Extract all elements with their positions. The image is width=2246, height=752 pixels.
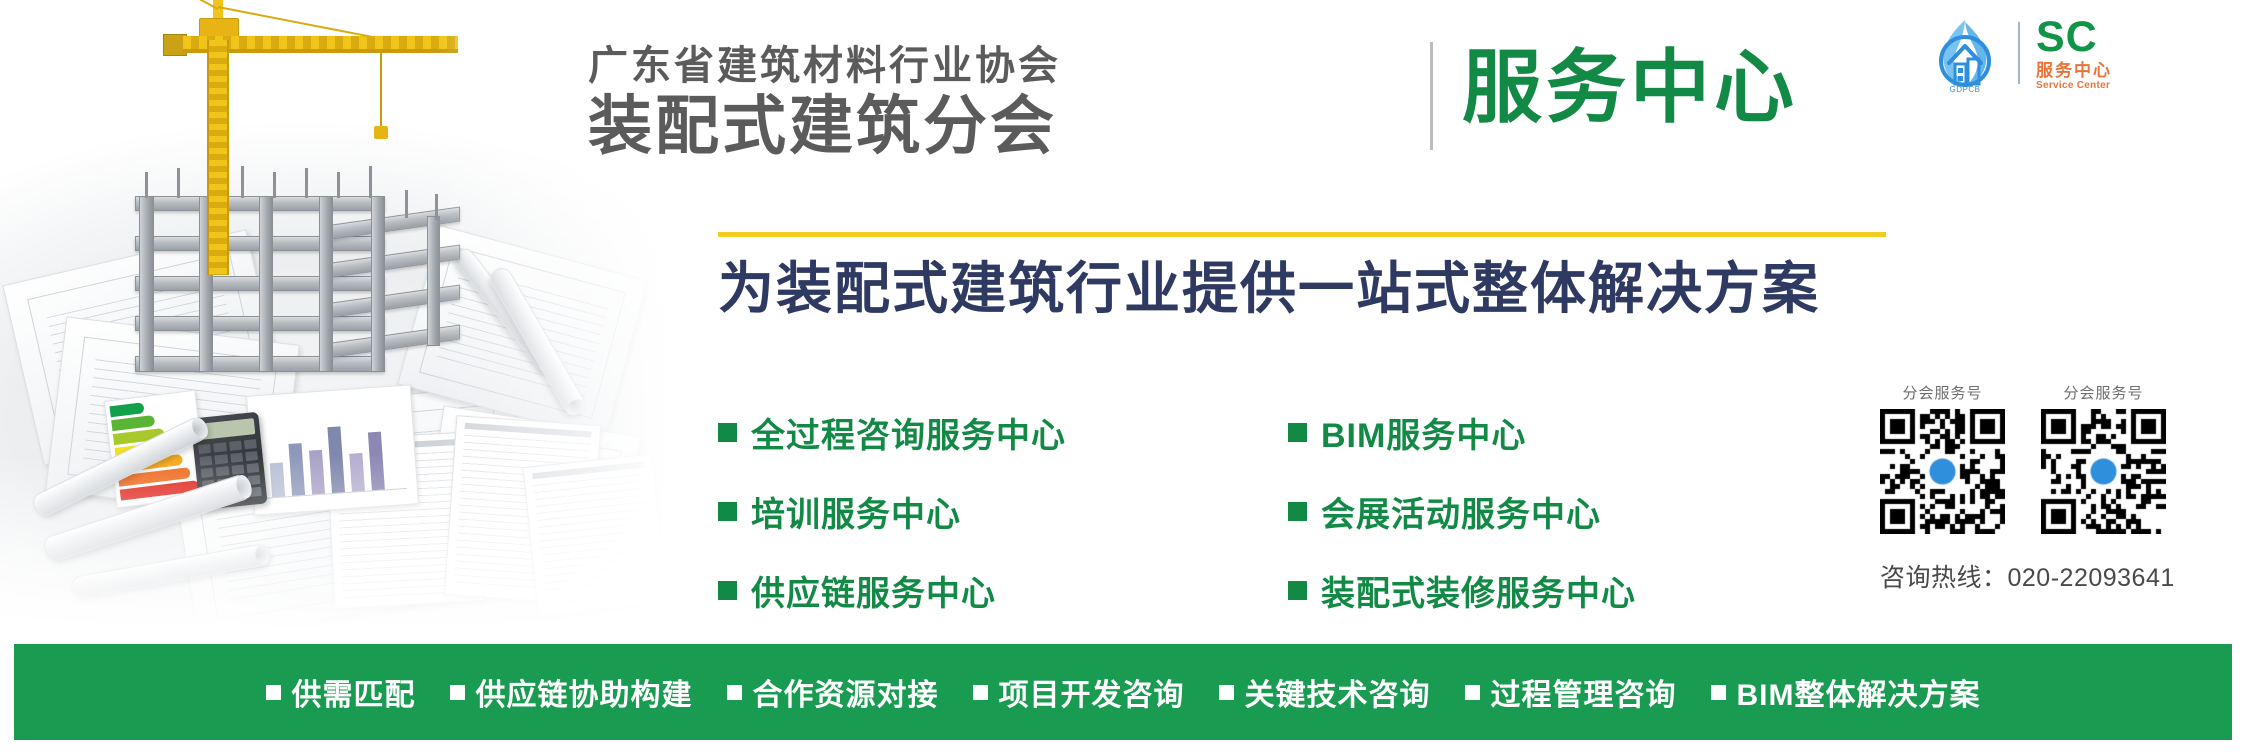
logo-abbr: SC bbox=[2036, 16, 2112, 59]
bottom-bar-item-label: 项目开发咨询 bbox=[999, 670, 1185, 714]
bottom-bar-item[interactable]: 项目开发咨询 bbox=[973, 670, 1185, 714]
qr-code-image[interactable] bbox=[2041, 409, 2166, 534]
logo-lockup: GDPCB SC 服务中心 Service Center bbox=[1928, 14, 2220, 92]
bottom-bar-item[interactable]: 合作资源对接 bbox=[727, 670, 939, 714]
service-center-list: 全过程咨询服务中心 BIM服务中心 培训服务中心 会展活动服务中心 供应链服务中… bbox=[718, 408, 1778, 615]
square-bullet-icon bbox=[1465, 685, 1480, 700]
square-bullet-icon bbox=[727, 685, 742, 700]
house-flame-icon: GDPCB bbox=[1928, 16, 2002, 90]
hotline-text: 咨询热线：020-22093641 bbox=[1880, 558, 2175, 594]
square-bullet-icon bbox=[1711, 685, 1726, 700]
qr-code-caption: 分会服务号 bbox=[1880, 382, 2005, 403]
service-item-label: 供应链服务中心 bbox=[751, 566, 996, 615]
square-bullet-icon bbox=[266, 685, 281, 700]
square-bullet-icon bbox=[973, 685, 988, 700]
bottom-bar-item-label: 供需匹配 bbox=[292, 670, 416, 714]
tagline: 为装配式建筑行业提供一站式整体解决方案 bbox=[718, 258, 1820, 320]
bottom-bar-item-label: 供应链协助构建 bbox=[476, 670, 693, 714]
bottom-service-bar: 供需匹配 供应链协助构建 合作资源对接 项目开发咨询 关键技术咨询 过程管理咨询… bbox=[14, 644, 2232, 740]
service-item-label: 装配式装修服务中心 bbox=[1321, 566, 1636, 615]
qr-code-cell: 分会服务号 bbox=[2041, 382, 2166, 534]
association-name: 广东省建筑材料行业协会 装配式建筑分会 bbox=[588, 46, 1061, 158]
bottom-bar-item[interactable]: 供应链协助构建 bbox=[450, 670, 693, 714]
qr-code-image[interactable] bbox=[1880, 409, 2005, 534]
square-bullet-icon bbox=[1219, 685, 1234, 700]
logo-name-cn: 服务中心 bbox=[2036, 62, 2112, 79]
bottom-bar-item[interactable]: 关键技术咨询 bbox=[1219, 670, 1431, 714]
service-item-label: 培训服务中心 bbox=[751, 487, 961, 536]
square-bullet-icon bbox=[450, 685, 465, 700]
square-bullet-icon bbox=[718, 423, 737, 442]
bottom-bar-item-label: 关键技术咨询 bbox=[1245, 670, 1431, 714]
service-item[interactable]: 会展活动服务中心 bbox=[1288, 487, 1778, 536]
yellow-divider bbox=[718, 232, 1886, 237]
service-item[interactable]: 培训服务中心 bbox=[718, 487, 1288, 536]
square-bullet-icon bbox=[718, 502, 737, 521]
qr-code-caption: 分会服务号 bbox=[2041, 382, 2166, 403]
bottom-bar-item[interactable]: 过程管理咨询 bbox=[1465, 670, 1677, 714]
bottom-bar-item-label: 合作资源对接 bbox=[753, 670, 939, 714]
logo-text: SC 服务中心 Service Center bbox=[2036, 16, 2112, 91]
service-item[interactable]: BIM服务中心 bbox=[1288, 408, 1778, 457]
service-item-label: BIM服务中心 bbox=[1321, 408, 1526, 457]
bottom-bar-item[interactable]: BIM整体解决方案 bbox=[1711, 670, 1981, 714]
service-item[interactable]: 供应链服务中心 bbox=[718, 566, 1288, 615]
service-center-heading: 服务中心 bbox=[1462, 48, 1798, 128]
square-bullet-icon bbox=[1288, 423, 1307, 442]
qr-code-cell: 分会服务号 bbox=[1880, 382, 2005, 534]
association-name-line1: 广东省建筑材料行业协会 bbox=[588, 46, 1061, 86]
header-vertical-divider bbox=[1430, 42, 1433, 150]
square-bullet-icon bbox=[718, 581, 737, 600]
logo-divider bbox=[2018, 22, 2020, 84]
bottom-bar-item-label: BIM整体解决方案 bbox=[1737, 670, 1981, 714]
bottom-bar-item[interactable]: 供需匹配 bbox=[266, 670, 416, 714]
bottom-bar-item-label: 过程管理咨询 bbox=[1491, 670, 1677, 714]
logo-name-en: Service Center bbox=[2036, 81, 2112, 91]
qr-code-group: 分会服务号 分会服务号 bbox=[1880, 382, 2210, 534]
banner-root: 广东省建筑材料行业协会 装配式建筑分会 服务中心 为装配式建筑行业提供一站式整体… bbox=[0, 0, 2246, 752]
service-item-label: 会展活动服务中心 bbox=[1321, 487, 1601, 536]
service-item-label: 全过程咨询服务中心 bbox=[751, 408, 1066, 457]
logo-mark-caption: GDPCB bbox=[1928, 85, 2002, 94]
square-bullet-icon bbox=[1288, 581, 1307, 600]
square-bullet-icon bbox=[1288, 502, 1307, 521]
tower-crane-icon bbox=[155, 0, 485, 280]
service-item[interactable]: 装配式装修服务中心 bbox=[1288, 566, 1778, 615]
form-document bbox=[523, 454, 668, 617]
association-name-line2: 装配式建筑分会 bbox=[588, 94, 1061, 158]
service-item[interactable]: 全过程咨询服务中心 bbox=[718, 408, 1288, 457]
